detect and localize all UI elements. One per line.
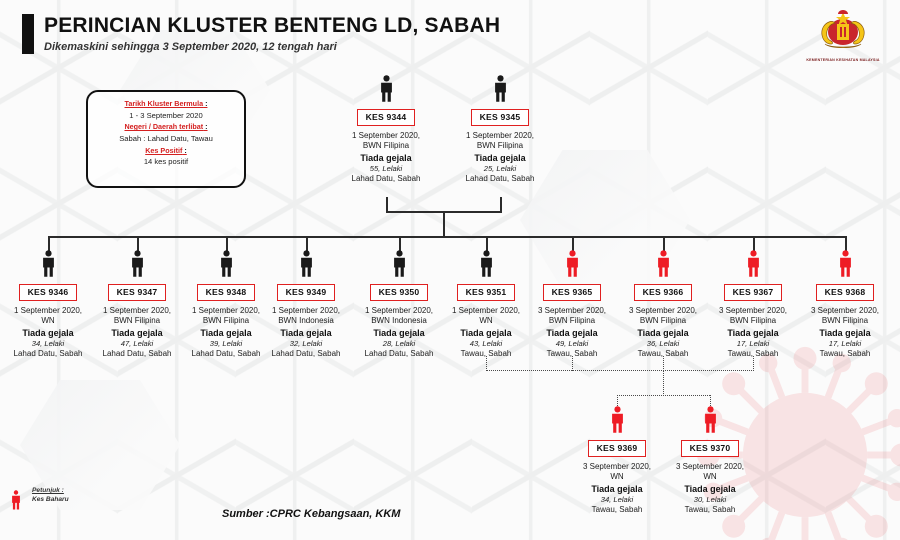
case-id-badge[interactable]: KES 9369 xyxy=(588,440,647,457)
case-node[interactable]: KES 93673 September 2020, BWN FilipinaTi… xyxy=(707,250,799,360)
person-icon xyxy=(10,490,22,510)
person-icon xyxy=(656,250,671,277)
case-location: Tawau, Sabah xyxy=(571,505,663,516)
case-age-sex: 47, Lelaki xyxy=(91,339,183,349)
person-icon xyxy=(41,250,56,277)
case-node[interactable]: KES 93511 September 2020, WNTiada gejala… xyxy=(440,250,532,360)
case-date: 3 September 2020, WN xyxy=(571,462,663,483)
case-age-sex: 43, Lelaki xyxy=(440,339,532,349)
infographic-canvas: PERINCIAN KLUSTER BENTENG LD, SABAH Dike… xyxy=(0,0,900,540)
case-meta: 1 September 2020, WNTiada gejala34, Lela… xyxy=(2,306,94,361)
case-node[interactable]: KES 93653 September 2020, BWN FilipinaTi… xyxy=(526,250,618,360)
case-symptom: Tiada gejala xyxy=(353,328,445,340)
case-id-badge[interactable]: KES 9344 xyxy=(357,109,416,126)
case-age-sex: 28, Lelaki xyxy=(353,339,445,349)
info-label-state: Negeri / Daerah terlibat : xyxy=(94,122,238,133)
source-note: Sumber :CPRC Kebangsaan, KKM xyxy=(222,508,400,520)
case-age-sex: 55, Lelaki xyxy=(326,164,446,174)
case-node[interactable]: KES 93491 September 2020, BWN IndonesiaT… xyxy=(260,250,352,360)
case-id-badge[interactable]: KES 9368 xyxy=(816,284,875,301)
case-symptom: Tiada gejala xyxy=(440,328,532,340)
person-icon xyxy=(379,75,394,102)
case-id-badge[interactable]: KES 9346 xyxy=(19,284,78,301)
case-symptom: Tiada gejala xyxy=(664,484,756,496)
case-age-sex: 34, Lelaki xyxy=(2,339,94,349)
case-age-sex: 17, Lelaki xyxy=(707,339,799,349)
person-icon xyxy=(130,250,145,277)
case-node[interactable]: KES 93481 September 2020, BWN FilipinaTi… xyxy=(180,250,272,360)
case-age-sex: 34, Lelaki xyxy=(571,495,663,505)
case-node[interactable]: KES 93471 September 2020, BWN FilipinaTi… xyxy=(91,250,183,360)
person-icon xyxy=(746,250,761,277)
case-meta: 3 September 2020, BWN FilipinaTiada geja… xyxy=(617,306,709,361)
case-date: 1 September 2020, WN xyxy=(440,306,532,327)
person-icon xyxy=(299,250,314,277)
case-location: Lahad Datu, Sabah xyxy=(326,174,446,185)
case-age-sex: 32, Lelaki xyxy=(260,339,352,349)
case-meta: 1 September 2020, BWN IndonesiaTiada gej… xyxy=(260,306,352,361)
case-date: 3 September 2020, BWN Filipina xyxy=(707,306,799,327)
case-id-badge[interactable]: KES 9367 xyxy=(724,284,783,301)
case-location: Tawau, Sabah xyxy=(440,349,532,360)
case-date: 3 September 2020, BWN Filipina xyxy=(617,306,709,327)
case-symptom: Tiada gejala xyxy=(526,328,618,340)
case-node[interactable]: KES 93663 September 2020, BWN FilipinaTi… xyxy=(617,250,709,360)
case-date: 1 September 2020, BWN Filipina xyxy=(440,131,560,152)
case-symptom: Tiada gejala xyxy=(326,153,446,165)
page-title: PERINCIAN KLUSTER BENTENG LD, SABAH xyxy=(44,14,500,38)
case-id-badge[interactable]: KES 9348 xyxy=(197,284,256,301)
case-meta: 3 September 2020, BWN FilipinaTiada geja… xyxy=(526,306,618,361)
case-meta: 3 September 2020, BWN FilipinaTiada geja… xyxy=(707,306,799,361)
logo-caption: KEMENTERIAN KESIHATAN MALAYSIA xyxy=(800,58,886,62)
case-node[interactable]: KES 93451 September 2020, BWN FilipinaTi… xyxy=(440,75,560,185)
case-date: 3 September 2020, WN xyxy=(664,462,756,483)
person-icon xyxy=(703,406,718,433)
case-node[interactable]: KES 93693 September 2020, WNTiada gejala… xyxy=(571,406,663,516)
info-label-positive: Kes Positif : xyxy=(94,146,238,157)
case-symptom: Tiada gejala xyxy=(260,328,352,340)
info-value-positive: 14 kes positif xyxy=(94,156,238,169)
case-age-sex: 39, Lelaki xyxy=(180,339,272,349)
legend-text: Petunjuk : Kes Baharu xyxy=(32,487,69,503)
case-symptom: Tiada gejala xyxy=(617,328,709,340)
case-location: Lahad Datu, Sabah xyxy=(180,349,272,360)
info-label-start: Tarikh Kluster Bermula : xyxy=(94,99,238,110)
case-id-badge[interactable]: KES 9347 xyxy=(108,284,167,301)
case-symptom: Tiada gejala xyxy=(571,484,663,496)
case-age-sex: 30, Lelaki xyxy=(664,495,756,505)
case-date: 3 September 2020, BWN Filipina xyxy=(526,306,618,327)
info-value-start: 1 - 3 September 2020 xyxy=(94,110,238,123)
malaysia-coat-of-arms-icon xyxy=(807,8,879,52)
legend-title: Petunjuk : xyxy=(32,487,69,494)
case-node[interactable]: KES 93501 September 2020, BWN IndonesiaT… xyxy=(353,250,445,360)
case-meta: 1 September 2020, BWN FilipinaTiada geja… xyxy=(326,131,446,186)
case-meta: 3 September 2020, WNTiada gejala30, Lela… xyxy=(664,462,756,517)
case-meta: 3 September 2020, BWN FilipinaTiada geja… xyxy=(799,306,891,361)
case-location: Tawau, Sabah xyxy=(664,505,756,516)
case-location: Lahad Datu, Sabah xyxy=(353,349,445,360)
case-date: 1 September 2020, BWN Indonesia xyxy=(353,306,445,327)
case-meta: 3 September 2020, WNTiada gejala34, Lela… xyxy=(571,462,663,517)
person-icon xyxy=(565,250,580,277)
page-header: PERINCIAN KLUSTER BENTENG LD, SABAH Dike… xyxy=(0,0,900,68)
title-accent-bar xyxy=(22,14,34,54)
person-icon xyxy=(479,250,494,277)
case-id-badge[interactable]: KES 9351 xyxy=(457,284,516,301)
case-id-badge[interactable]: KES 9345 xyxy=(471,109,530,126)
case-age-sex: 36, Lelaki xyxy=(617,339,709,349)
info-value-state: Sabah : Lahad Datu, Tawau xyxy=(94,133,238,146)
case-symptom: Tiada gejala xyxy=(180,328,272,340)
kkm-logo: KEMENTERIAN KESIHATAN MALAYSIA xyxy=(800,8,886,64)
person-icon xyxy=(219,250,234,277)
dotted-bus-to-gen3 xyxy=(663,370,664,396)
case-id-badge[interactable]: KES 9349 xyxy=(277,284,336,301)
connector-index-9344-down xyxy=(386,197,388,212)
case-node[interactable]: KES 93461 September 2020, WNTiada gejala… xyxy=(2,250,94,360)
dotted-bus-tawau xyxy=(486,370,754,371)
case-location: Tawau, Sabah xyxy=(707,349,799,360)
case-date: 3 September 2020, BWN Filipina xyxy=(799,306,891,327)
case-meta: 1 September 2020, BWN IndonesiaTiada gej… xyxy=(353,306,445,361)
case-symptom: Tiada gejala xyxy=(799,328,891,340)
case-date: 1 September 2020, BWN Filipina xyxy=(180,306,272,327)
case-symptom: Tiada gejala xyxy=(707,328,799,340)
case-location: Tawau, Sabah xyxy=(526,349,618,360)
case-meta: 1 September 2020, WNTiada gejala43, Lela… xyxy=(440,306,532,361)
case-age-sex: 49, Lelaki xyxy=(526,339,618,349)
case-node[interactable]: KES 93703 September 2020, WNTiada gejala… xyxy=(664,406,756,516)
case-meta: 1 September 2020, BWN FilipinaTiada geja… xyxy=(440,131,560,186)
connector-main-bus xyxy=(48,236,845,238)
case-meta: 1 September 2020, BWN FilipinaTiada geja… xyxy=(180,306,272,361)
case-id-badge[interactable]: KES 9365 xyxy=(543,284,602,301)
case-symptom: Tiada gejala xyxy=(2,328,94,340)
cluster-info-box: Tarikh Kluster Bermula : 1 - 3 September… xyxy=(86,90,246,188)
case-age-sex: 25, Lelaki xyxy=(440,164,560,174)
case-location: Lahad Datu, Sabah xyxy=(260,349,352,360)
person-icon xyxy=(392,250,407,277)
case-id-badge[interactable]: KES 9366 xyxy=(634,284,693,301)
case-node[interactable]: KES 93441 September 2020, BWN FilipinaTi… xyxy=(326,75,446,185)
case-symptom: Tiada gejala xyxy=(440,153,560,165)
case-date: 1 September 2020, BWN Filipina xyxy=(91,306,183,327)
person-icon xyxy=(493,75,508,102)
dotted-bus-gen3 xyxy=(617,395,710,396)
case-date: 1 September 2020, WN xyxy=(2,306,94,327)
person-icon xyxy=(610,406,625,433)
page-subtitle: Dikemaskini sehingga 3 September 2020, 1… xyxy=(44,41,337,53)
connector-index-to-bus xyxy=(443,211,445,237)
case-location: Lahad Datu, Sabah xyxy=(91,349,183,360)
case-age-sex: 17, Lelaki xyxy=(799,339,891,349)
case-location: Tawau, Sabah xyxy=(799,349,891,360)
case-location: Tawau, Sabah xyxy=(617,349,709,360)
case-id-badge[interactable]: KES 9370 xyxy=(681,440,740,457)
case-symptom: Tiada gejala xyxy=(91,328,183,340)
person-icon xyxy=(838,250,853,277)
case-date: 1 September 2020, BWN Filipina xyxy=(326,131,446,152)
legend-item-new-case: Kes Baharu xyxy=(32,496,69,503)
connector-index-9345-down xyxy=(500,197,502,212)
case-location: Lahad Datu, Sabah xyxy=(2,349,94,360)
case-date: 1 September 2020, BWN Indonesia xyxy=(260,306,352,327)
case-location: Lahad Datu, Sabah xyxy=(440,174,560,185)
case-meta: 1 September 2020, BWN FilipinaTiada geja… xyxy=(91,306,183,361)
case-node[interactable]: KES 93683 September 2020, BWN FilipinaTi… xyxy=(799,250,891,360)
case-id-badge[interactable]: KES 9350 xyxy=(370,284,429,301)
